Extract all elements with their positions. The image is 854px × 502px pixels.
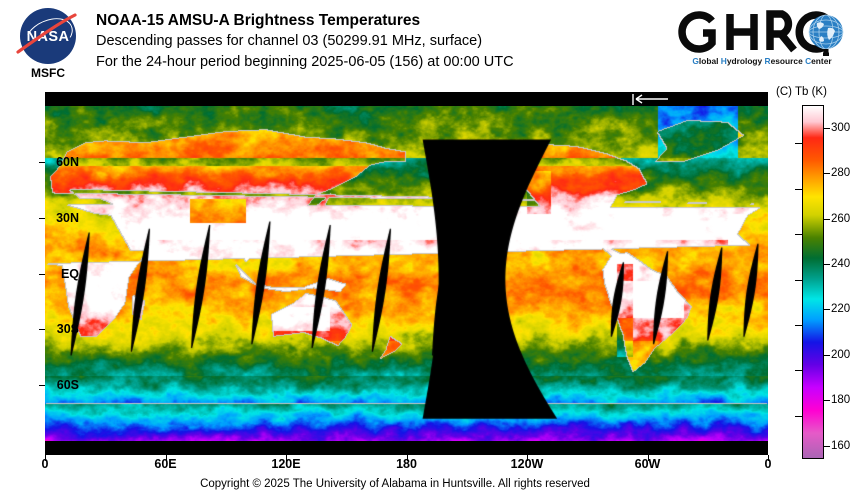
brightness-temperature-map <box>45 106 768 441</box>
colorbar-tick-mark-celsius <box>795 370 802 371</box>
lat-tick-mark <box>39 274 45 275</box>
header: NASA MSFC NOAA-15 AMSU-A Brightness Temp… <box>0 0 854 88</box>
colorbar-tick-mark-kelvin <box>823 128 830 129</box>
lat-tick-label: 60S <box>57 378 86 392</box>
colorbar-tick-mark-kelvin <box>823 264 830 265</box>
colorbar-tick-label-kelvin: 300 <box>831 122 850 134</box>
lon-tick-mark <box>527 455 528 461</box>
title-subtitle-period: For the 24-hour period beginning 2025-06… <box>96 52 514 73</box>
lat-tick-mark <box>39 162 45 163</box>
msfc-label: MSFC <box>14 66 82 80</box>
colorbar-header: (C) Tb (K) <box>776 86 827 98</box>
colorbar-tick-mark-kelvin <box>823 219 830 220</box>
colorbar-tick-label-kelvin: 260 <box>831 213 850 225</box>
colorbar-tick-label-kelvin: 160 <box>831 440 850 452</box>
lon-tick-mark <box>768 455 769 461</box>
lon-tick-mark <box>166 455 167 461</box>
nasa-swoosh-icon <box>15 12 79 58</box>
colorbar-gradient <box>803 106 823 458</box>
colorbar <box>802 105 824 459</box>
ghrc-lettermark <box>678 8 846 56</box>
lat-tick-label: EQ <box>61 267 86 281</box>
colorbar-tick-mark-kelvin <box>823 309 830 310</box>
colorbar-tick-mark-celsius <box>795 325 802 326</box>
lat-tick-label: 30S <box>57 322 86 336</box>
lon-tick-mark <box>286 455 287 461</box>
copyright-notice: Copyright © 2025 The University of Alaba… <box>0 478 790 490</box>
colorbar-tick-mark-kelvin <box>823 355 830 356</box>
lon-tick-mark <box>648 455 649 461</box>
colorbar-tick-mark-kelvin <box>823 446 830 447</box>
lat-tick-label: 30N <box>56 211 86 225</box>
colorbar-tick-mark-celsius <box>795 143 802 144</box>
colorbar-tick-mark-celsius <box>795 189 802 190</box>
colorbar-tick-mark-celsius <box>795 234 802 235</box>
colorbar-tick-label-kelvin: 280 <box>831 167 850 179</box>
lat-tick-mark <box>39 218 45 219</box>
ghrc-logo: Global Hydrology Resource Center <box>678 8 846 74</box>
colorbar-tick-mark-kelvin <box>823 400 830 401</box>
map-canvas <box>45 106 768 441</box>
lat-tick-mark <box>39 385 45 386</box>
lat-tick-mark <box>39 329 45 330</box>
colorbar-tick-mark-kelvin <box>823 173 830 174</box>
colorbar-tick-mark-celsius <box>795 280 802 281</box>
colorbar-tick-mark-celsius <box>795 416 802 417</box>
page-title: NOAA-15 AMSU-A Brightness Temperatures <box>96 10 514 31</box>
title-subtitle-channel: Descending passes for channel 03 (50299.… <box>96 31 514 52</box>
colorbar-tick-label-kelvin: 220 <box>831 303 850 315</box>
map-plot-area <box>45 92 768 455</box>
nasa-logo: NASA MSFC <box>14 6 82 84</box>
colorbar-tick-label-kelvin: 240 <box>831 258 850 270</box>
lat-tick-label: 60N <box>56 155 86 169</box>
title-block: NOAA-15 AMSU-A Brightness Temperatures D… <box>96 10 514 73</box>
lon-tick-mark <box>45 455 46 461</box>
swath-gap-pointer-icon <box>630 93 670 106</box>
ghrc-tagline: Global Hydrology Resource Center <box>682 56 842 66</box>
colorbar-tick-label-kelvin: 180 <box>831 394 850 406</box>
colorbar-tick-label-kelvin: 200 <box>831 349 850 361</box>
lon-tick-mark <box>407 455 408 461</box>
